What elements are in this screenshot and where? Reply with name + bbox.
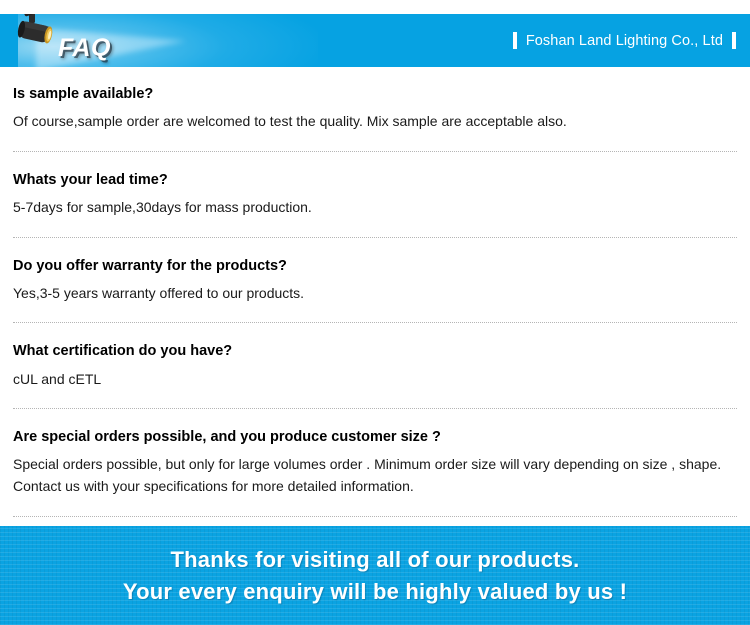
page-footer: Thanks for visiting all of our products.… xyxy=(0,526,750,625)
faq-answer-line: Of course,sample order are welcomed to t… xyxy=(13,111,737,133)
spacer xyxy=(0,498,750,516)
footer-line-1: Thanks for visiting all of our products. xyxy=(171,544,580,576)
spacer xyxy=(0,133,750,151)
faq-answer-line: Special orders possible, but only for la… xyxy=(13,454,737,476)
page-header: FAQ Foshan Land Lighting Co., Ltd xyxy=(0,14,750,67)
faq-answer-line: Yes,3-5 years warranty offered to our pr… xyxy=(13,283,737,305)
divider-bar-right xyxy=(732,32,736,49)
spacer xyxy=(0,219,750,237)
faq-list: Is sample available? Of course,sample or… xyxy=(0,67,750,584)
faq-answer-line: Contact us with your specifications for … xyxy=(13,476,737,498)
faq-answer: Yes,3-5 years warranty offered to our pr… xyxy=(13,275,737,305)
spacer xyxy=(0,304,750,322)
company-name-block: Foshan Land Lighting Co., Ltd xyxy=(513,14,736,67)
faq-question: Do you offer warranty for the products? xyxy=(13,239,737,275)
spacer xyxy=(0,390,750,408)
faq-item: What certification do you have? cUL and … xyxy=(0,324,750,390)
faq-answer: 5-7days for sample,30days for mass produ… xyxy=(13,189,737,219)
footer-line-2: Your every enquiry will be highly valued… xyxy=(123,576,627,608)
page-title: FAQ xyxy=(58,36,111,61)
faq-question: Whats your lead time? xyxy=(13,153,737,189)
faq-answer-line: 5-7days for sample,30days for mass produ… xyxy=(13,197,737,219)
faq-answer: Of course,sample order are welcomed to t… xyxy=(13,103,737,133)
faq-question: Are special orders possible, and you pro… xyxy=(13,410,737,446)
faq-answer: Special orders possible, but only for la… xyxy=(13,446,737,497)
faq-item: Do you offer warranty for the products? … xyxy=(0,239,750,305)
company-name: Foshan Land Lighting Co., Ltd xyxy=(526,33,723,49)
faq-answer: cUL and cETL xyxy=(13,361,737,391)
faq-item: Is sample available? Of course,sample or… xyxy=(0,67,750,133)
faq-page: FAQ Foshan Land Lighting Co., Ltd Is sam… xyxy=(0,0,750,625)
divider-bar-left xyxy=(513,32,517,49)
faq-question: Is sample available? xyxy=(13,67,737,103)
faq-item: Whats your lead time? 5-7days for sample… xyxy=(0,153,750,219)
faq-answer-line: cUL and cETL xyxy=(13,369,737,391)
faq-item: Are special orders possible, and you pro… xyxy=(0,410,750,498)
faq-question: What certification do you have? xyxy=(13,324,737,360)
